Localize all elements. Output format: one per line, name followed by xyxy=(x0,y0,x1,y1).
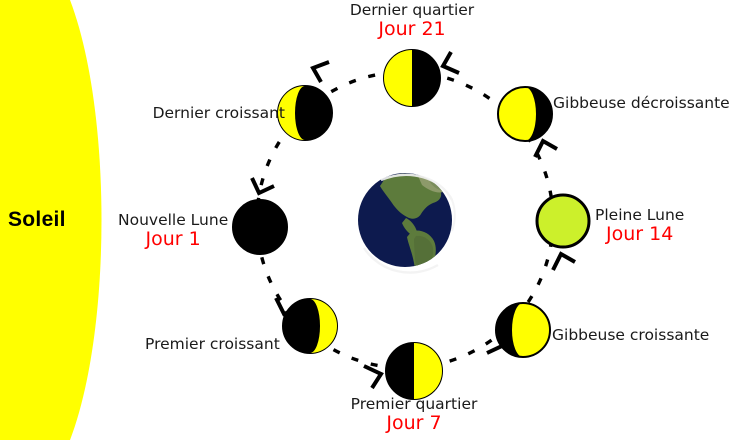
phase-name-dernier-croissant: Dernier croissant xyxy=(153,104,285,122)
phase-label-nouvelle-lune: Nouvelle Lune Jour 1 xyxy=(118,212,228,251)
moon-nouvelle-lune xyxy=(233,200,287,254)
phase-label-gibbeuse-croissante: Gibbeuse croissante xyxy=(552,327,709,344)
earth-globe xyxy=(358,173,455,279)
phase-name-dernier-quartier: Dernier quartier xyxy=(350,1,474,19)
moon-pleine-lune xyxy=(537,195,589,247)
phase-name-pleine-lune: Pleine Lune xyxy=(595,206,684,224)
phase-label-gibbeuse-decroissante: Gibbeuse décroissante xyxy=(553,95,730,112)
phase-day-pleine-lune: Jour 14 xyxy=(595,224,684,245)
moon-gibbeuse-decroissante xyxy=(498,87,552,141)
moon-phases-diagram: Soleil Nouvelle Lune Jour 1 Premier croi… xyxy=(0,0,738,440)
phase-label-premier-croissant: Premier croissant xyxy=(145,336,280,353)
phase-name-premier-croissant: Premier croissant xyxy=(145,335,280,353)
phase-day-dernier-quartier: Jour 21 xyxy=(312,19,512,40)
moon-dernier-croissant xyxy=(278,86,332,140)
phase-label-dernier-quartier: Dernier quartier Jour 21 xyxy=(312,2,512,41)
phase-day-nouvelle-lune: Jour 1 xyxy=(118,229,228,250)
moon-gibbeuse-croissante xyxy=(496,303,550,357)
moon-premier-quartier xyxy=(386,343,442,399)
phase-name-gibbeuse-croissante: Gibbeuse croissante xyxy=(552,326,709,344)
phase-day-premier-quartier: Jour 7 xyxy=(314,413,514,434)
phase-label-premier-quartier: Premier quartier Jour 7 xyxy=(314,396,514,435)
phase-name-gibbeuse-decroissante: Gibbeuse décroissante xyxy=(553,94,730,112)
moon-dernier-quartier xyxy=(384,50,440,106)
phase-label-dernier-croissant: Dernier croissant xyxy=(85,105,285,122)
sun-label: Soleil xyxy=(8,208,66,232)
phase-label-pleine-lune: Pleine Lune Jour 14 xyxy=(595,207,684,246)
moon-premier-croissant xyxy=(283,299,337,353)
phase-name-premier-quartier: Premier quartier xyxy=(351,395,478,413)
phase-name-nouvelle-lune: Nouvelle Lune xyxy=(118,211,228,229)
